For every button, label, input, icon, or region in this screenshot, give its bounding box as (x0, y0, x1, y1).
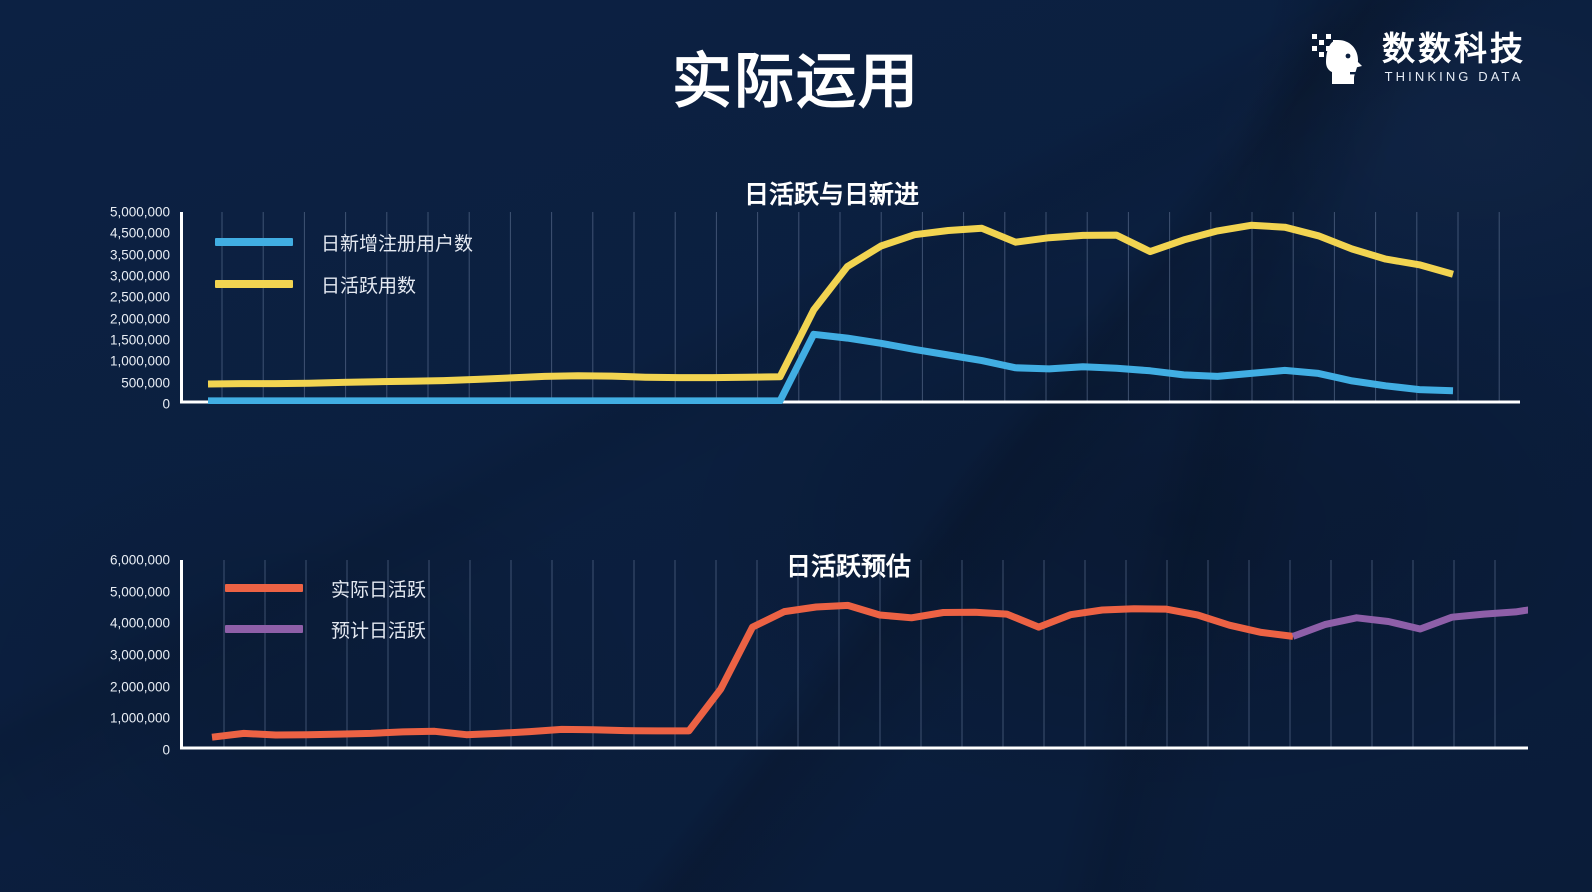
legend-label-actual-dau: 实际日活跃 (331, 575, 426, 602)
y-axis-tick-label: 5,000,000 (110, 585, 170, 599)
y-axis-tick-label: 0 (162, 743, 170, 757)
y-axis-tick-label: 4,000,000 (110, 617, 170, 631)
chart-dau-forecast: 日活跃预估 6,000,0005,000,0004,000,0003,000,0… (0, 0, 1592, 892)
y-axis-tick-label: 1,000,000 (110, 712, 170, 726)
y-axis-tick-label: 2,000,000 (110, 680, 170, 694)
y-axis-tick-label: 6,000,000 (110, 553, 170, 567)
y-axis-tick-label: 3,000,000 (110, 648, 170, 662)
series-line (1293, 591, 1528, 636)
legend-label-forecast-dau: 预计日活跃 (331, 616, 426, 643)
chart-2-legend: 实际日活跃 预计日活跃 (225, 574, 426, 643)
legend-item[interactable]: 预计日活跃 (225, 615, 426, 643)
chart-2-y-axis: 6,000,0005,000,0004,000,0003,000,0002,00… (60, 560, 170, 750)
legend-item[interactable]: 实际日活跃 (225, 574, 426, 602)
legend-swatch-forecast-dau (225, 625, 303, 633)
legend-swatch-actual-dau (225, 584, 303, 592)
